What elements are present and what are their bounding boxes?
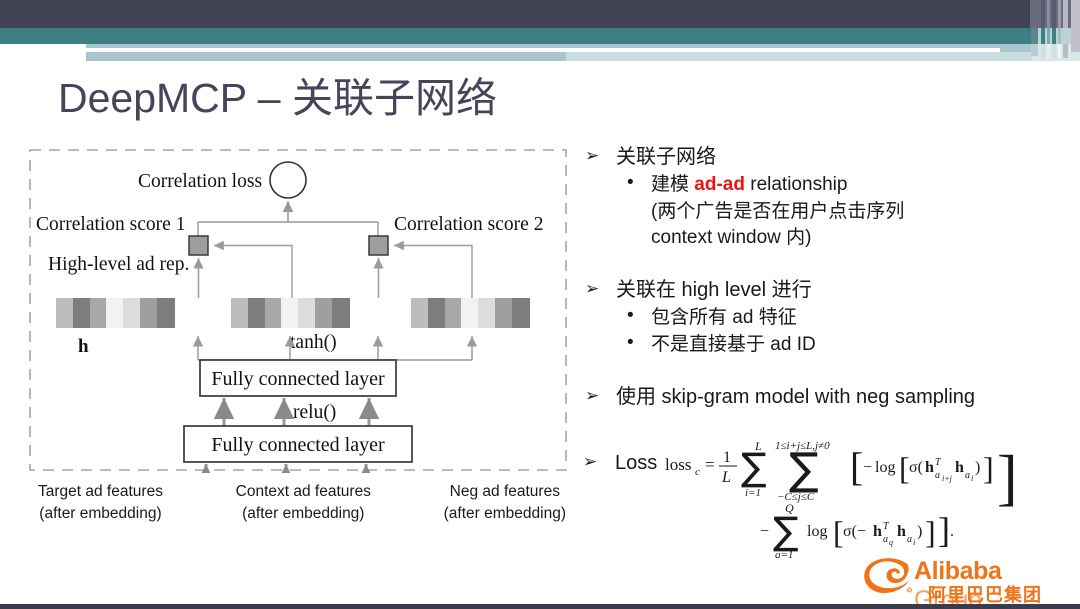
header-vbar-teal-5 (1058, 28, 1061, 44)
bullet-continuation-line-2: context window 内) (583, 225, 1075, 251)
svg-text:c: c (695, 466, 700, 478)
svg-text:i+j: i+j (942, 474, 953, 483)
svg-text:a: a (907, 534, 912, 545)
header-dark-band (0, 0, 1030, 28)
svg-text:L: L (754, 440, 762, 453)
header-white-line (86, 48, 1000, 52)
header-vbar-teal-6 (1063, 28, 1068, 44)
svg-text:a: a (935, 470, 940, 481)
svg-text:∑: ∑ (773, 509, 799, 553)
header-vbar-teal-4 (1052, 28, 1056, 44)
bullet-text: 使用 skip-gram model with neg sampling (616, 386, 975, 408)
header-vbar-light-4 (1052, 44, 1056, 58)
correlation-score-2-label: Correlation score 2 (394, 214, 543, 235)
header-vbar-light-1 (1031, 44, 1038, 56)
svg-text:a: a (883, 534, 888, 545)
embedding-block-context (231, 298, 350, 328)
loss-label: Loss (615, 452, 657, 475)
page-title: DeepMCP – 关联子网络 (58, 64, 497, 124)
header-teal-band (0, 28, 1032, 44)
svg-text:]: ] (997, 444, 1018, 512)
svg-text:T: T (883, 521, 890, 532)
alibaba-smiley-icon: R (862, 557, 914, 599)
bullet-text: 不是直接基于 ad ID (651, 334, 816, 355)
header-light-band-3 (566, 52, 1032, 61)
fc-upper-label: Fully connected layer (211, 368, 385, 390)
correlation-score-1-label: Correlation score 1 (36, 214, 185, 235)
svg-text:−: − (760, 523, 769, 540)
svg-text:]: ] (925, 514, 936, 550)
svg-text:i: i (913, 538, 915, 547)
loss-formula-image: loss c = 1 L ∑ L i=1 ∑ 1≤i+j≤L,j≠0 −C≤j≤… (665, 440, 1075, 558)
svg-text:∑: ∑ (741, 445, 767, 489)
svg-text:Q: Q (785, 501, 794, 515)
header-light-band-2 (86, 52, 566, 61)
header-white-gap (0, 44, 86, 52)
svg-text:log: log (875, 459, 895, 476)
h-symbol-label: h (78, 336, 89, 357)
high-level-ad-rep-label: High-level ad rep. (48, 254, 189, 275)
embedding-block-neg (411, 298, 530, 328)
bullet-level1-high-level: ➢ 关联在 high level 进行 (583, 277, 1075, 303)
svg-text:.: . (950, 523, 954, 540)
dot-bullet-icon: • (627, 330, 634, 356)
svg-text:h: h (897, 523, 906, 540)
svg-text:log: log (807, 523, 827, 540)
alibaba-group-logo: R Alibaba Group 阿里巴巴集团 (862, 555, 1062, 600)
embedding-block-target (56, 298, 175, 328)
tanh-label: tanh() (290, 332, 337, 353)
bullet-list: ➢ 关联子网络 • 建模 ad-ad relationship (两个广告是否在… (583, 144, 1075, 412)
svg-text:): ) (975, 459, 980, 476)
caption-neg-ad: Neg ad features (after embedding) (444, 481, 566, 526)
svg-text:a: a (965, 470, 970, 481)
header-vbar-teal-2 (1041, 28, 1045, 44)
header-vbar-light-2 (1041, 44, 1045, 58)
arrow-bullet-icon: ➢ (585, 385, 599, 408)
footer-bar (0, 604, 1080, 609)
correlation-subnetwork-diagram: Correlation loss Correlation score 1 Cor… (28, 148, 568, 473)
bullet-continuation-line-1: (两个广告是否在用户点击序列 (583, 199, 1075, 225)
bullet-level2-all-ad-features: • 包含所有 ad 特征 (583, 305, 1075, 331)
correlation-loss-label: Correlation loss (138, 171, 262, 192)
header-vbar-teal-1 (1031, 28, 1038, 44)
svg-text:σ(: σ( (909, 459, 923, 476)
svg-text:−: − (863, 459, 872, 476)
svg-text:L: L (721, 469, 731, 486)
bullet-part-highlight: ad-ad (694, 174, 745, 195)
svg-text:=: = (705, 455, 715, 474)
svg-text:q=1: q=1 (775, 549, 793, 558)
relu-label: relu() (293, 402, 336, 423)
svg-text:1≤i+j≤L,j≠0: 1≤i+j≤L,j≠0 (775, 440, 830, 452)
svg-text:[: [ (850, 444, 863, 489)
correlation-score-2-node (369, 236, 388, 255)
arrow-bullet-icon: ➢ (585, 145, 599, 168)
dot-bullet-icon: • (627, 303, 634, 329)
bullet-level1-correlation-subnetwork: ➢ 关联子网络 (583, 144, 1075, 170)
svg-text:loss: loss (665, 455, 691, 474)
dot-bullet-icon: • (627, 170, 634, 196)
svg-text:i=1: i=1 (745, 487, 761, 499)
caption-target-ad: Target ad features (after embedding) (38, 481, 163, 526)
arrow-bullet-icon: ➢ (585, 278, 599, 301)
bullet-text: 关联在 high level 进行 (616, 279, 812, 301)
svg-text:]: ] (938, 510, 950, 550)
fc-lower-label: Fully connected layer (211, 434, 385, 456)
svg-text:q: q (889, 538, 893, 547)
header-vbar-light-5 (1058, 44, 1061, 58)
header-vbar-teal-3 (1047, 28, 1050, 44)
svg-text:]: ] (983, 450, 994, 486)
correlation-loss-node (270, 162, 306, 198)
correlation-score-1-node (189, 236, 208, 255)
bullet-text: 包含所有 ad 特征 (651, 307, 797, 328)
svg-text:σ(−: σ(− (843, 523, 866, 540)
bullet-level2-ad-ad-relationship: • 建模 ad-ad relationship (583, 172, 1075, 198)
svg-text:i: i (971, 474, 973, 483)
header-vbar-light-3 (1047, 44, 1050, 58)
bullet-text: 关联子网络 (616, 146, 716, 168)
svg-text:T: T (935, 457, 942, 468)
svg-text:1: 1 (723, 449, 731, 466)
svg-text:h: h (925, 459, 934, 476)
caption-context-ad: Context ad features (after embedding) (236, 481, 371, 526)
bullet-part-3: relationship (745, 174, 847, 195)
slide-canvas: DeepMCP – 关联子网络 Correlation loss (0, 0, 1080, 609)
svg-text:h: h (955, 459, 964, 476)
arrow-bullet-icon: ➢ (583, 452, 597, 472)
svg-text:): ) (917, 523, 922, 540)
bullet-level1-skip-gram: ➢ 使用 skip-gram model with neg sampling (583, 384, 1075, 410)
header-vbar-7 (1071, 0, 1080, 52)
diagram-captions: Target ad features (after embedding) Con… (28, 481, 576, 526)
bullet-part-1: 建模 (651, 174, 694, 195)
svg-text:h: h (873, 523, 882, 540)
svg-text:−C≤j≤C: −C≤j≤C (777, 491, 815, 503)
bullet-level2-not-ad-id: • 不是直接基于 ad ID (583, 332, 1075, 358)
